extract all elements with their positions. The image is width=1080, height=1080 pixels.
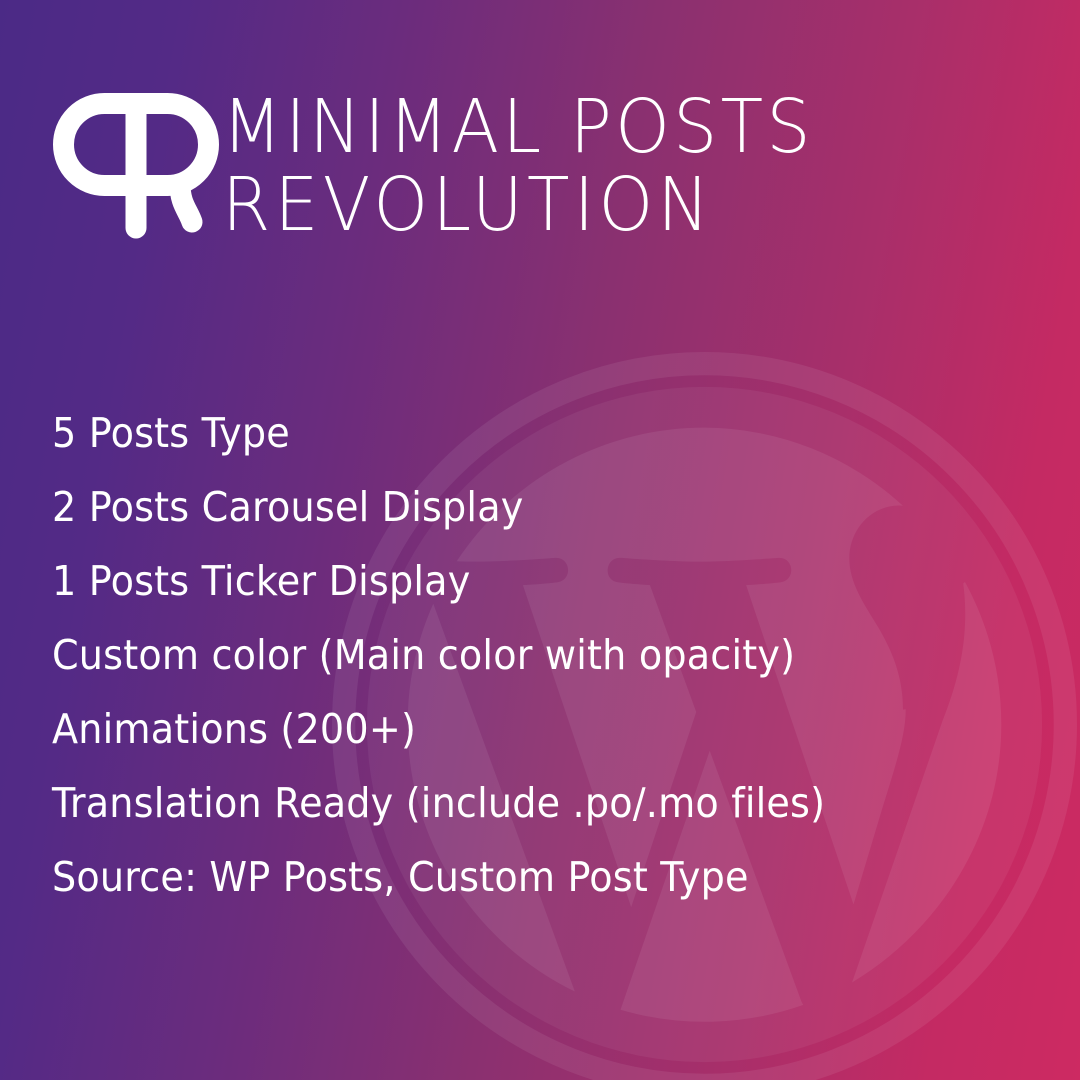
title-line-secondary: REVOLUTION bbox=[222, 166, 993, 244]
list-item: Animations (200+) bbox=[52, 692, 945, 766]
brand-header: MINIMAL POSTS REVOLUTION bbox=[52, 92, 1032, 252]
list-item: Custom color (Main color with opacity) bbox=[52, 618, 945, 692]
pr-monogram-icon bbox=[52, 92, 220, 240]
list-item: Source: WP Posts, Custom Post Type bbox=[52, 840, 945, 914]
list-item: 2 Posts Carousel Display bbox=[52, 470, 945, 544]
list-item: Translation Ready (include .po/.mo files… bbox=[52, 766, 945, 840]
title-line-primary: MINIMAL POSTS bbox=[222, 88, 993, 166]
list-item: 1 Posts Ticker Display bbox=[52, 544, 945, 618]
feature-list: 5 Posts Type 2 Posts Carousel Display 1 … bbox=[52, 396, 1012, 914]
promo-banner: MINIMAL POSTS REVOLUTION 5 Posts Type 2 … bbox=[0, 0, 1080, 1080]
page-title: MINIMAL POSTS REVOLUTION bbox=[222, 88, 1042, 244]
list-item: 5 Posts Type bbox=[52, 396, 945, 470]
